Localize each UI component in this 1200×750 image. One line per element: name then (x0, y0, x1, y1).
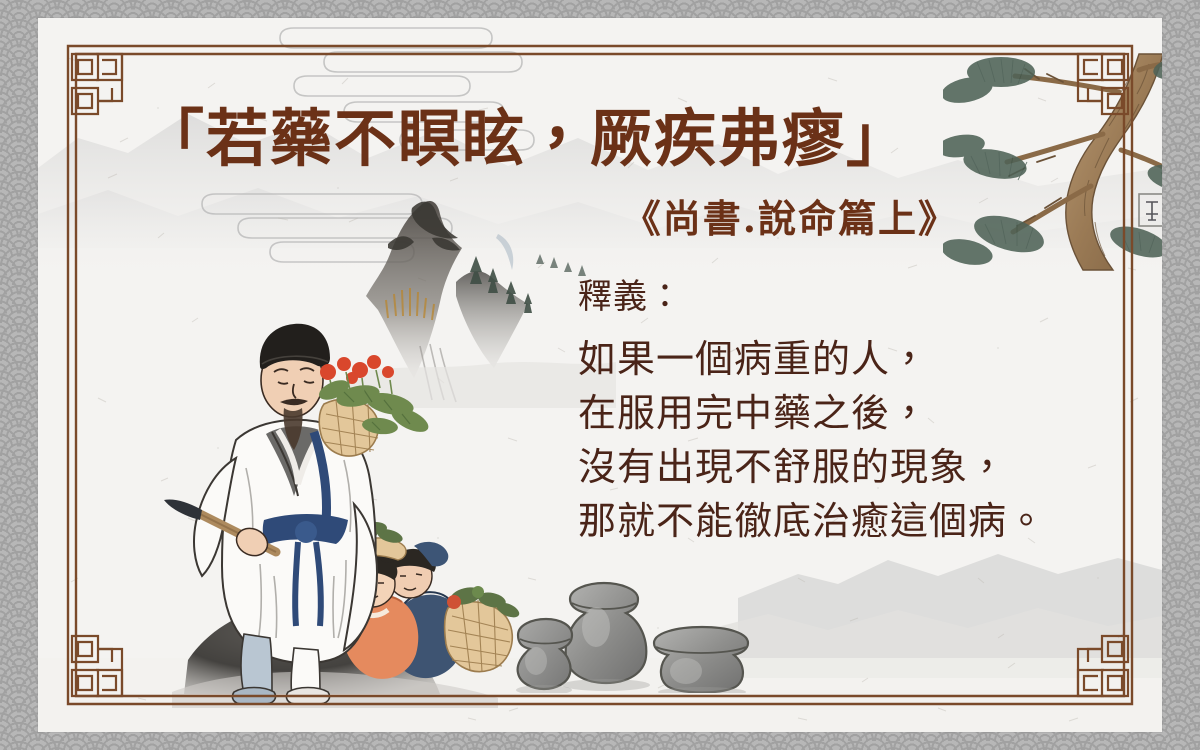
paper-card: 「若藥不瞑眩，厥疾弗瘳」 《尚書.說命篇上》 釋義： 如果一個病重的人， 在服用… (38, 18, 1162, 732)
poster-stage: 「若藥不瞑眩，厥疾弗瘳」 《尚書.說命篇上》 釋義： 如果一個病重的人， 在服用… (0, 0, 1200, 750)
gloss-line-2: 在服用完中藥之後， (578, 388, 1138, 442)
child-orange (314, 522, 418, 679)
herb-gatherer-figures-illustration (148, 308, 528, 708)
quote-source: 《尚書.說命篇上》 (38, 196, 958, 242)
gloss-line-1: 如果一個病重的人， (578, 334, 1138, 388)
hoe-tool (164, 499, 276, 560)
flower-basket (316, 355, 432, 456)
quote-headline: 「若藥不瞑眩，厥疾弗瘳」 (142, 106, 972, 171)
seal-stamp (1139, 194, 1162, 226)
gloss-label: 釋義： (578, 280, 1138, 314)
herb-gatherer-adult (164, 324, 432, 704)
gloss-block: 釋義： 如果一個病重的人， 在服用完中藥之後， 沒有出現不舒服的現象， 那就不能… (578, 280, 1138, 550)
medicine-jars-illustration (508, 573, 808, 693)
child-blue (388, 542, 521, 678)
pine-tree-illustration (943, 46, 1162, 276)
gloss-line-4: 那就不能徹底治癒這個病。 (578, 496, 1138, 550)
gloss-line-3: 沒有出現不舒服的現象， (578, 442, 1138, 496)
